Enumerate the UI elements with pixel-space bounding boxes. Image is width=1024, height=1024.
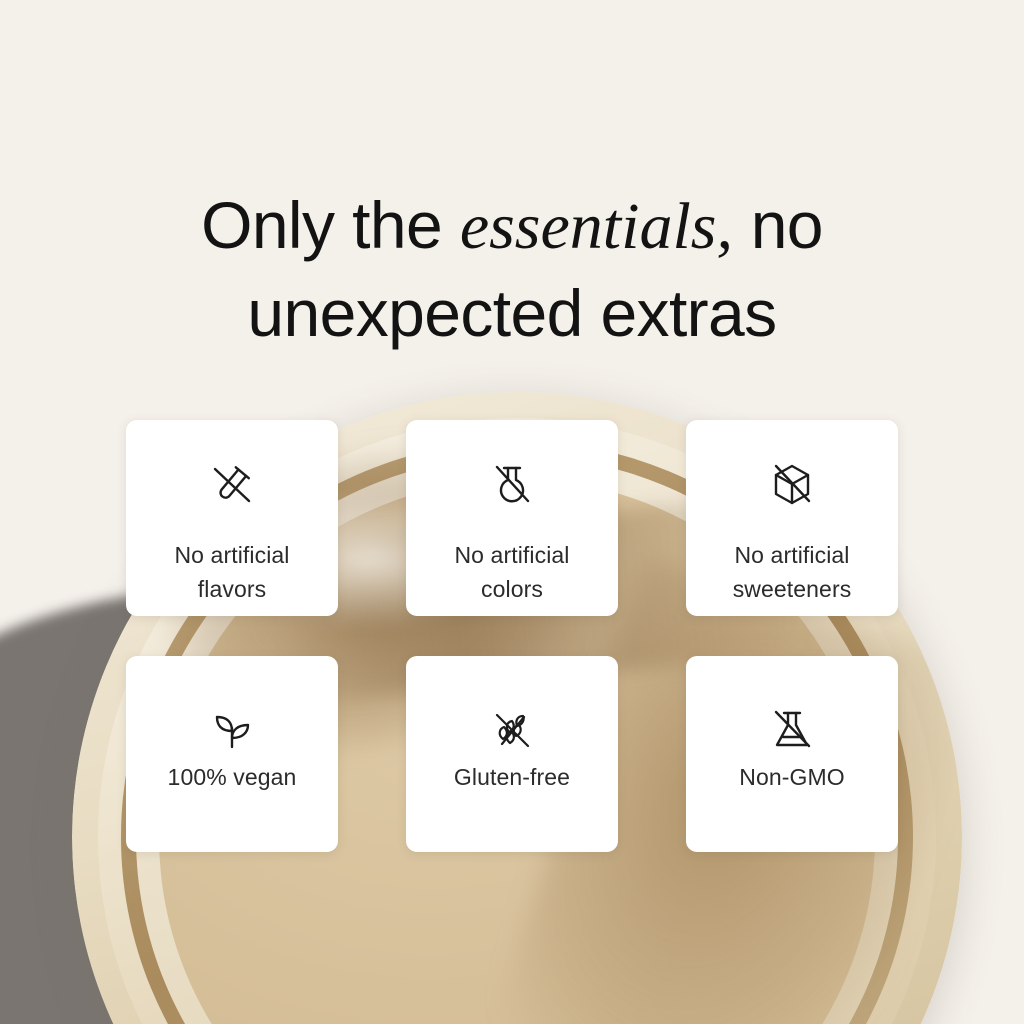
page-title: Only the essentials, no unexpected extra… bbox=[0, 182, 1024, 356]
badge-card-gluten-free: Gluten-free bbox=[406, 656, 618, 852]
promo-graphic: Only the essentials, no unexpected extra… bbox=[0, 0, 1024, 1024]
headline-emphasis: essentials, bbox=[460, 190, 733, 263]
flask-slash-icon bbox=[481, 454, 543, 516]
badge-label-line2: colors bbox=[481, 576, 543, 602]
badge-label: 100% vegan bbox=[162, 760, 303, 794]
erlenmeyer-flask-slash-icon bbox=[761, 700, 823, 760]
badge-label-line1: No artificial bbox=[734, 542, 849, 568]
badge-label-line1: No artificial bbox=[454, 542, 569, 568]
badge-card-no-artificial-flavors: No artificialflavors bbox=[126, 420, 338, 616]
sprout-icon bbox=[201, 700, 263, 760]
badge-card-no-artificial-colors: No artificialcolors bbox=[406, 420, 618, 616]
badge-card-vegan: 100% vegan bbox=[126, 656, 338, 852]
badge-label: Gluten-free bbox=[448, 760, 576, 794]
badge-card-non-gmo: Non-GMO bbox=[686, 656, 898, 852]
badge-label: Non-GMO bbox=[733, 760, 851, 794]
test-tube-slash-icon bbox=[201, 454, 263, 516]
wheat-slash-icon bbox=[481, 700, 543, 760]
sugar-cube-slash-icon bbox=[761, 454, 823, 516]
badge-label-line2: sweeteners bbox=[733, 576, 852, 602]
badge-label-line1: No artificial bbox=[174, 542, 289, 568]
benefits-grid: No artificialflavors No artificialcolors bbox=[126, 420, 898, 852]
badge-label: No artificialcolors bbox=[448, 538, 575, 606]
badge-card-no-artificial-sweeteners: No artificialsweeteners bbox=[686, 420, 898, 616]
badge-label: No artificialsweeteners bbox=[727, 538, 858, 606]
badge-label: No artificialflavors bbox=[168, 538, 295, 606]
headline-part-1: Only the bbox=[201, 188, 460, 262]
badge-label-line2: flavors bbox=[198, 576, 266, 602]
